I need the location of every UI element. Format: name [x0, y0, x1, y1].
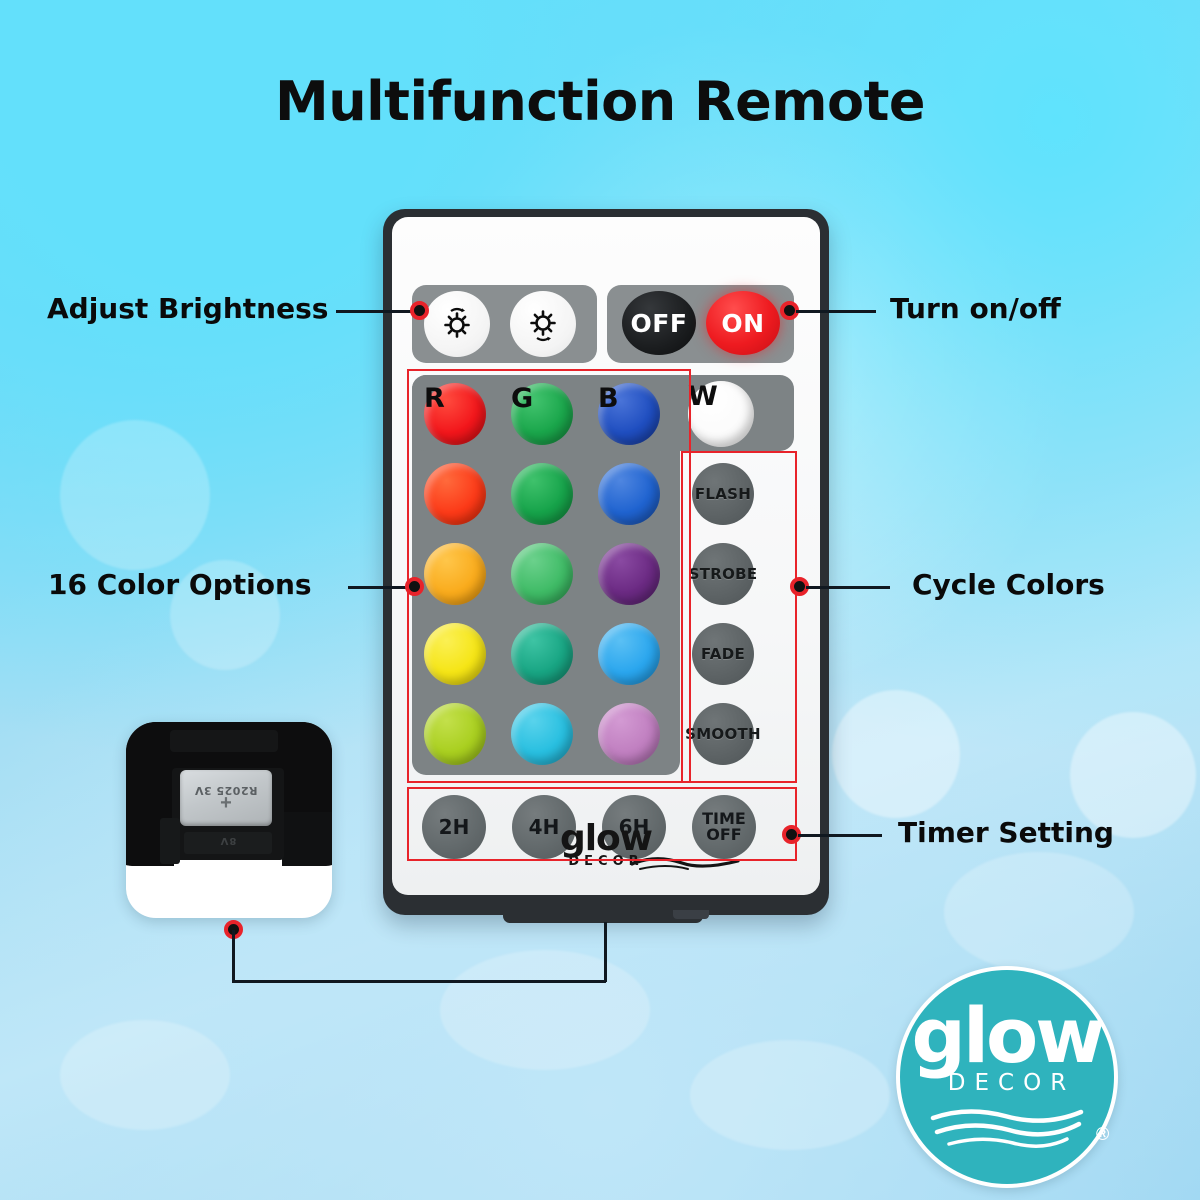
color-button-w-label: W: [688, 381, 718, 412]
coin-cell-polarity: +: [220, 792, 232, 815]
on-button-label: ON: [721, 309, 764, 338]
color-button-w[interactable]: W: [688, 381, 754, 447]
remote-bottom-tab-small: [673, 910, 709, 919]
callout-timer-setting: Timer Setting: [898, 816, 1114, 849]
wave-icon: [927, 1104, 1087, 1148]
brightness-down-button[interactable]: [510, 291, 576, 357]
bokeh-circle: [690, 1040, 890, 1150]
leader-line-cycle-colors: [806, 586, 890, 589]
leader-battery-horiz: [232, 980, 606, 983]
bokeh-circle: [944, 852, 1134, 972]
battery-door-latch: [160, 818, 180, 864]
infographic-canvas: Multifunction Remote: [0, 0, 1200, 1200]
sun-down-icon: [521, 302, 565, 346]
off-button-label: OFF: [631, 309, 688, 338]
callout-adjust-brightness: Adjust Brightness: [47, 292, 328, 325]
brand-badge: glow DECOR: [896, 966, 1118, 1188]
callout-color-options: 16 Color Options: [48, 568, 312, 601]
coin-cell-battery: R2025 3V +: [180, 770, 272, 826]
inset-embossed-text: [170, 730, 278, 752]
battery-compartment-inset: R2025 3V + 8V: [126, 722, 332, 918]
bokeh-circle: [440, 950, 650, 1070]
callout-dot-color-options: [405, 577, 424, 596]
battery-door-lip: 8V: [184, 832, 272, 854]
highlight-cycle-colors: [681, 451, 797, 783]
remote-control: OFF ON R G B W: [383, 209, 829, 915]
brand-badge-sub: DECOR: [948, 1070, 1075, 1096]
page-title: Multifunction Remote: [0, 70, 1200, 133]
bokeh-circle: [60, 1020, 230, 1130]
callout-dot-brightness: [410, 301, 429, 320]
brand-badge-word: glow: [912, 1006, 1103, 1065]
leader-line-brightness: [336, 310, 414, 313]
bokeh-circle: [60, 420, 210, 570]
callout-turn-on-off: Turn on/off: [890, 292, 1061, 325]
highlight-timer: [407, 787, 797, 861]
leader-line-turn-on-off: [796, 310, 876, 313]
brand-badge-registered: ®: [1096, 1124, 1109, 1145]
leader-battery-vert-right: [604, 922, 607, 982]
brightness-up-button[interactable]: [424, 291, 490, 357]
highlight-color-options: [407, 369, 691, 783]
off-button[interactable]: OFF: [622, 291, 696, 355]
leader-line-timer-setting: [798, 834, 882, 837]
callout-cycle-colors: Cycle Colors: [912, 568, 1105, 601]
on-button[interactable]: ON: [706, 291, 780, 355]
bokeh-circle: [832, 690, 960, 818]
battery-door-text: 8V: [184, 835, 272, 846]
leader-battery-vert-left: [232, 930, 235, 982]
sun-up-icon: [435, 302, 479, 346]
